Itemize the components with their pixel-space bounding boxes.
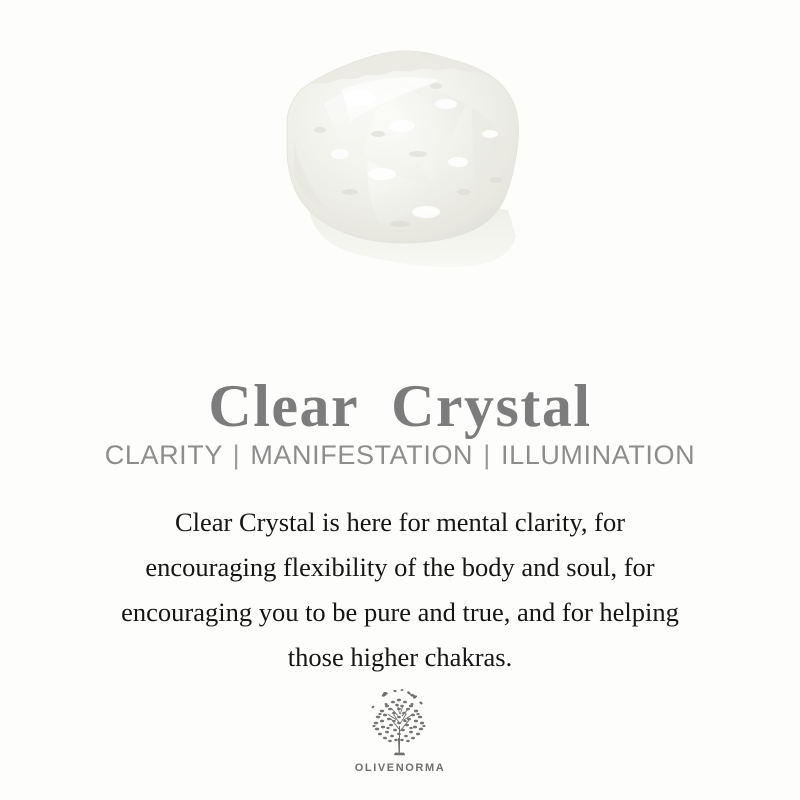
brand-wordmark: OLIVENORMA [355, 763, 446, 774]
page-title: Clear Crystal [0, 376, 800, 436]
crystal-facet-far-left [294, 140, 326, 208]
keyword-separator: | [231, 440, 243, 470]
crystal-tail [308, 184, 516, 267]
crystal-highlights [331, 90, 498, 218]
crystal-facet-far-right [472, 108, 510, 210]
brand-logo: OLIVENORMA [0, 686, 800, 774]
description-text: Clear Crystal is here for mental clarity… [50, 500, 750, 680]
keyword-list: CLARITY | MANIFESTATION | ILLUMINATION [0, 441, 800, 471]
keyword-separator: | [481, 440, 493, 470]
description-line: Clear Crystal is here for mental clarity… [50, 500, 750, 545]
crystal-facet-left [324, 82, 390, 156]
product-info-card: Clear Crystal CLARITY | MANIFESTATION | … [0, 0, 800, 800]
keyword-manifestation: MANIFESTATION [250, 440, 473, 470]
description-line: encouraging you to be pure and true, and… [50, 590, 750, 635]
crystal-sheen [342, 77, 440, 122]
crystal-inclusions [314, 83, 502, 227]
description-line: those higher chakras. [50, 635, 750, 680]
description-line: encouraging flexibility of the body and … [50, 545, 750, 590]
crystal-facet-bottom [368, 160, 429, 224]
crystal-facet-right [396, 84, 466, 182]
crystal-top-texture [306, 51, 496, 86]
keyword-clarity: CLARITY [105, 440, 223, 470]
keyword-illumination: ILLUMINATION [501, 440, 695, 470]
clear-crystal-stone-icon [250, 34, 550, 294]
crystal-body [287, 51, 519, 243]
olive-tree-icon [364, 686, 436, 760]
product-image-container [0, 0, 800, 320]
